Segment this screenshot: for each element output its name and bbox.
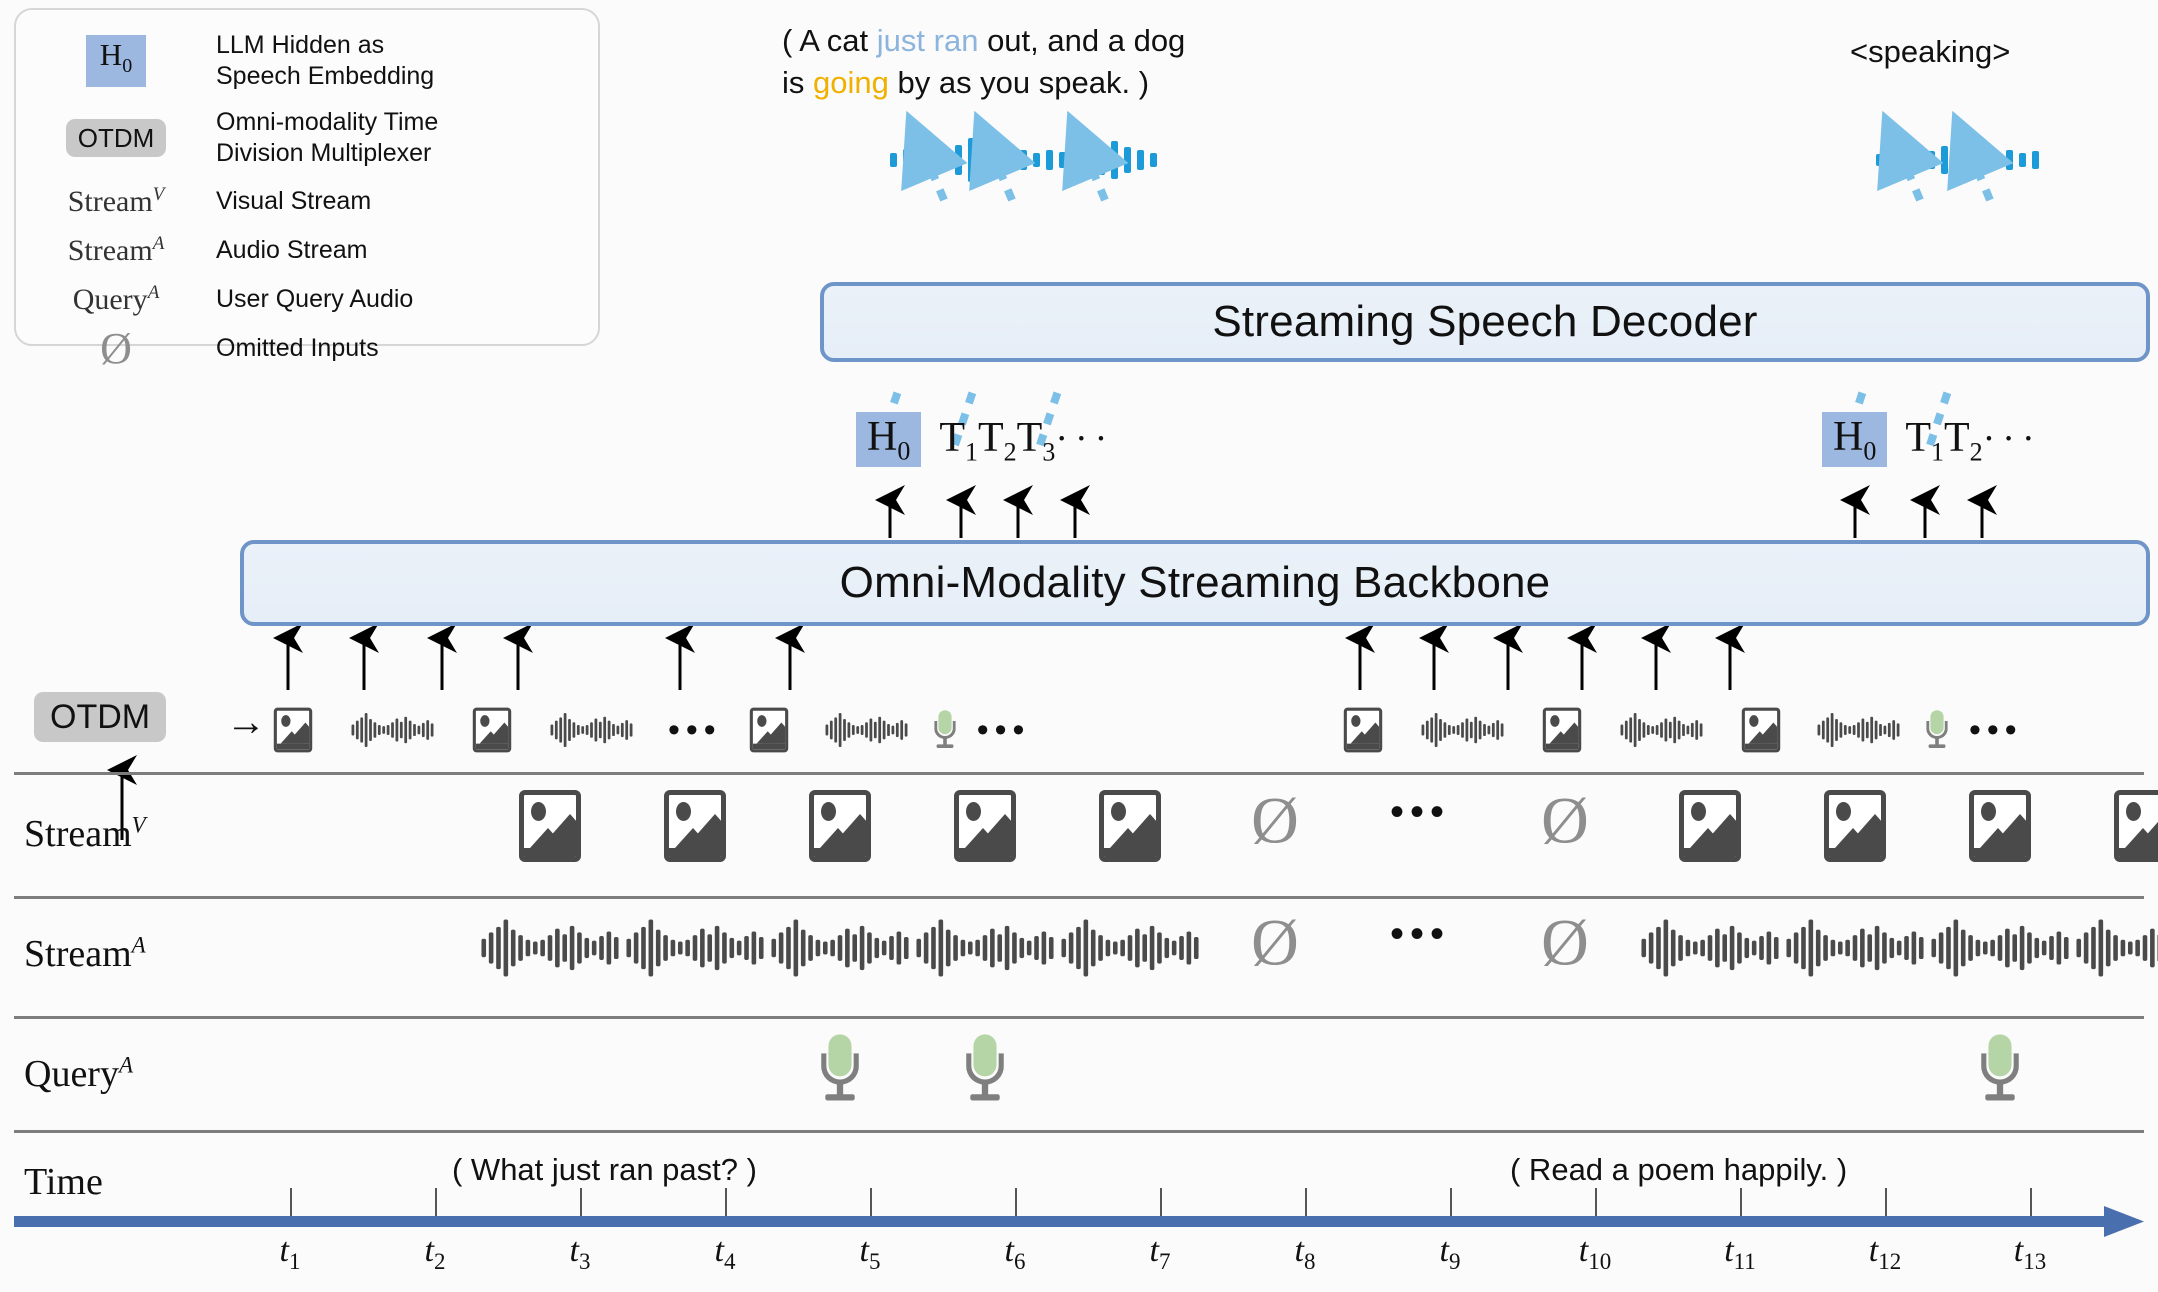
stream-audio-symbol: StreamA xyxy=(68,233,165,268)
audio-bar xyxy=(1823,935,1828,961)
audio-bar xyxy=(823,942,828,955)
audio-bar xyxy=(1912,931,1917,964)
audio-bar xyxy=(852,934,857,962)
row-divider-3 xyxy=(14,1130,2144,1133)
time-tick xyxy=(870,1188,872,1216)
token-t3: T3 xyxy=(1017,414,1056,467)
audio-bar xyxy=(685,940,690,957)
legend-key-h0: H0 xyxy=(16,35,216,86)
audio-bar xyxy=(1860,929,1865,968)
audio-bar xyxy=(413,724,416,736)
speaking-tag-label: <speaking> xyxy=(1850,34,2010,70)
audio-bar xyxy=(1128,935,1133,961)
audio-bar xyxy=(551,725,554,736)
ellipsis-icon: ••• xyxy=(668,711,722,750)
microphone-icon xyxy=(1925,710,1949,750)
audio-bar xyxy=(924,932,929,963)
waveform-bar xyxy=(981,151,988,169)
image-frame-icon xyxy=(473,708,511,753)
audio-bar xyxy=(1165,938,1170,958)
audio-bar xyxy=(953,935,958,961)
time-tick-label: t10 xyxy=(1579,1232,1611,1275)
audio-bar xyxy=(603,717,606,743)
audio-bar xyxy=(1737,932,1742,963)
audio-bar xyxy=(816,940,821,957)
image-frame-icon xyxy=(519,790,581,862)
time-tick-label: t13 xyxy=(2014,1232,2046,1275)
audio-bar xyxy=(1968,935,1973,961)
audio-bar xyxy=(418,726,421,735)
audio-bar xyxy=(1621,725,1624,736)
audio-bar xyxy=(830,721,833,740)
audio-bar xyxy=(1643,722,1646,737)
audio-bar xyxy=(489,932,494,963)
audio-bar xyxy=(663,935,668,961)
audio-bar xyxy=(1664,919,1669,976)
audio-bar xyxy=(369,719,372,741)
audio-waveform-icon xyxy=(916,915,1053,981)
output-waveform-right xyxy=(1876,138,2039,182)
audio-bar xyxy=(504,919,509,976)
audio-bar xyxy=(1020,938,1025,958)
waveform-bar xyxy=(1876,154,1883,166)
audio-bar xyxy=(786,927,791,969)
audio-waveform-icon xyxy=(771,915,908,981)
image-frame-icon xyxy=(1099,790,1161,862)
audio-bar xyxy=(1954,919,1959,976)
audio-bar xyxy=(630,723,633,736)
audio-bar xyxy=(649,919,654,976)
audio-bar xyxy=(2128,942,2133,955)
audio-bar xyxy=(1448,725,1451,735)
audio-bar xyxy=(1767,931,1772,964)
token-h0: H0 xyxy=(1822,412,1887,467)
token-h0: H0 xyxy=(856,412,921,467)
stream-audio-cell xyxy=(476,912,625,984)
stream-audio-cell: Ø xyxy=(1251,912,1299,974)
audio-bar xyxy=(1061,939,1066,957)
decoder-label: Streaming Speech Decoder xyxy=(1212,297,1757,347)
audio-bar xyxy=(887,724,890,736)
audio-bar xyxy=(614,937,619,959)
audio-bar xyxy=(1474,717,1477,743)
streaming-speech-decoder-box[interactable]: Streaming Speech Decoder xyxy=(820,282,2150,362)
audio-bar xyxy=(1845,940,1850,957)
utterance-seg-4: by as you speak. ) xyxy=(889,65,1149,100)
audio-bar xyxy=(1461,722,1464,737)
audio-bar xyxy=(625,720,628,740)
audio-bar xyxy=(939,919,944,976)
audio-bar xyxy=(2099,919,2104,976)
legend-key-otdm: OTDM xyxy=(16,119,216,157)
audio-bar xyxy=(1120,940,1125,957)
utterance-seg-highlight-blue: just ran xyxy=(877,23,979,58)
image-frame-icon xyxy=(1679,790,1741,862)
ellipsis-icon: ••• xyxy=(1390,790,1450,835)
audio-bar xyxy=(426,720,429,740)
audio-bar xyxy=(2084,932,2089,963)
waveform-bar xyxy=(968,138,975,182)
audio-bar xyxy=(1439,719,1442,741)
omitted-input-icon: Ø xyxy=(1541,790,1589,852)
row-label-query-audio: QueryA xyxy=(24,1052,133,1096)
audio-bar xyxy=(1457,725,1460,735)
audio-bar xyxy=(845,929,850,968)
time-tick-label: t5 xyxy=(860,1232,881,1275)
audio-bar xyxy=(1647,725,1650,735)
audio-bar xyxy=(897,931,902,964)
audio-bar xyxy=(671,940,676,957)
otdm-cell xyxy=(736,694,802,766)
legend-panel: H0 LLM Hidden asSpeech Embedding OTDM Om… xyxy=(14,8,600,346)
audio-bar xyxy=(722,932,727,963)
audio-bar xyxy=(990,929,995,968)
waveform-bar xyxy=(1889,150,1896,170)
audio-bar xyxy=(1875,926,1880,970)
audio-bar xyxy=(1884,726,1887,735)
token-ellipsis: ··· xyxy=(1055,417,1114,467)
audio-bar xyxy=(559,717,562,742)
stream-visual-cell: ••• xyxy=(1390,790,1450,835)
audio-bar xyxy=(1853,725,1856,735)
audio-bar xyxy=(900,720,903,740)
audio-bar xyxy=(916,939,921,957)
audio-bar xyxy=(1691,723,1694,737)
stream-visual-cell xyxy=(809,790,871,862)
stream-visual-cell xyxy=(1679,790,1741,862)
audio-bar xyxy=(577,932,582,963)
audio-bar xyxy=(1488,726,1491,735)
audio-bar xyxy=(968,942,973,955)
row-divider-2 xyxy=(14,1016,2144,1019)
otdm-cell xyxy=(1330,694,1396,766)
audio-bar xyxy=(1634,713,1637,747)
audio-bar xyxy=(1759,936,1764,960)
legend-key-omitted: Ø xyxy=(16,329,216,369)
audio-bar xyxy=(481,939,486,957)
legend-item-otdm: OTDM Omni-modality TimeDivision Multiple… xyxy=(16,100,598,176)
audio-waveform-icon xyxy=(1621,710,1703,750)
time-tick-label: t2 xyxy=(425,1232,446,1275)
audio-bar xyxy=(1840,722,1843,737)
audio-bar xyxy=(533,942,538,955)
omitted-input-icon: Ø xyxy=(1251,790,1299,852)
otdm-sequence-left: •••••• xyxy=(260,694,1040,766)
stream-visual-cell xyxy=(519,790,581,862)
audio-waveform-icon xyxy=(2076,915,2158,981)
audio-bar xyxy=(1826,717,1829,742)
audio-bar xyxy=(1656,725,1659,735)
h0-chip: H0 xyxy=(86,35,146,86)
waveform-bar xyxy=(1915,148,1922,172)
audio-bar xyxy=(595,718,598,741)
audio-bar xyxy=(570,926,575,970)
audio-bar xyxy=(391,722,394,737)
legend-desc-otdm: Omni-modality TimeDivision Multiplexer xyxy=(216,107,438,169)
audio-bar xyxy=(1822,721,1825,740)
query-audio-cell xyxy=(1980,1036,2020,1102)
audio-bar xyxy=(2035,938,2040,958)
audio-bar xyxy=(1897,941,1902,956)
stream-audio-cell xyxy=(911,912,1060,984)
waveform-bar xyxy=(1150,153,1157,167)
audio-bar xyxy=(1422,725,1425,736)
row-label-stream-visual: StreamV xyxy=(24,812,146,856)
audio-bar xyxy=(555,929,560,968)
image-frame-icon xyxy=(749,708,787,753)
time-tick xyxy=(1885,1188,1887,1216)
audio-bar xyxy=(1678,935,1683,961)
audio-bar xyxy=(904,937,909,959)
utterance-seg-3: is xyxy=(782,65,813,100)
otdm-cell xyxy=(459,694,525,766)
token-row-left: H0T1T2T3··· xyxy=(856,412,1114,467)
audio-bar xyxy=(1501,723,1504,736)
audio-bar xyxy=(374,722,377,737)
audio-bar xyxy=(573,722,576,737)
audio-bar xyxy=(1897,723,1900,736)
omitted-input-icon: Ø xyxy=(1541,912,1589,974)
audio-bar xyxy=(641,927,646,969)
audio-bar xyxy=(2106,930,2111,967)
audio-waveform-icon xyxy=(1931,915,2068,981)
time-tick xyxy=(2030,1188,2032,1216)
omitted-input-icon: Ø xyxy=(1251,912,1299,974)
stream-visual-cell xyxy=(2114,790,2158,862)
audio-bar xyxy=(2091,927,2096,969)
audio-bar xyxy=(1426,721,1429,740)
audio-bar xyxy=(1466,718,1469,741)
audio-bar xyxy=(825,725,828,736)
otdm-chip-main: OTDM xyxy=(34,692,166,742)
audio-bar xyxy=(2049,936,2054,960)
audio-bar xyxy=(1656,927,1661,969)
audio-waveform-icon xyxy=(1061,915,1198,981)
time-tick-label: t6 xyxy=(1005,1232,1026,1275)
audio-bar xyxy=(847,722,850,737)
token-row-right: H0T1T2··· xyxy=(1822,412,2042,467)
audio-bar xyxy=(1649,932,1654,963)
audio-bar xyxy=(1983,942,1988,955)
token-t2: T2 xyxy=(978,414,1017,467)
audio-bar xyxy=(834,717,837,742)
token-t1: T1 xyxy=(939,414,978,467)
stream-visual-cell xyxy=(1824,790,1886,862)
audio-waveform-icon xyxy=(352,710,434,750)
audio-bar xyxy=(707,934,712,962)
audio-waveform-icon xyxy=(1818,710,1900,750)
audio-bar xyxy=(409,721,412,740)
audio-bar xyxy=(1976,940,1981,957)
otdm-cell xyxy=(1798,694,1955,766)
audio-bar xyxy=(794,919,799,976)
audio-bar xyxy=(2076,939,2081,957)
time-tick xyxy=(1595,1188,1597,1216)
audio-bar xyxy=(1005,926,1010,970)
waveform-bar xyxy=(1033,153,1040,167)
audio-bar xyxy=(1076,927,1081,969)
audio-bar xyxy=(2064,937,2069,959)
audio-bar xyxy=(360,717,363,742)
audio-bar xyxy=(607,931,612,964)
audio-bar xyxy=(1892,720,1895,740)
image-frame-icon xyxy=(1742,708,1780,753)
otdm-chip-container[interactable]: OTDM xyxy=(34,702,166,733)
time-tick-label: t8 xyxy=(1295,1232,1316,1275)
waveform-bar xyxy=(1046,150,1053,170)
audio-bar xyxy=(896,723,899,737)
audio-bar xyxy=(1844,725,1847,735)
audio-bar xyxy=(1479,721,1482,740)
audio-bar xyxy=(656,930,661,967)
waveform-bar xyxy=(955,145,962,175)
audio-bar xyxy=(1042,931,1047,964)
audio-bar xyxy=(564,713,567,747)
otdm-cell xyxy=(1599,694,1724,766)
audio-waveform-icon xyxy=(1786,915,1923,981)
token-t1: T1 xyxy=(1905,414,1944,467)
utterance-seg-highlight-orange: going xyxy=(813,65,889,100)
audio-bar xyxy=(1671,930,1676,967)
audio-bar xyxy=(634,932,639,963)
audio-bar xyxy=(404,717,407,743)
audio-bar xyxy=(378,725,381,735)
audio-bar xyxy=(1027,941,1032,956)
audio-bar xyxy=(562,934,567,962)
audio-bar xyxy=(548,935,553,961)
audio-bar xyxy=(612,724,615,736)
audio-bar xyxy=(1879,724,1882,736)
legend-desc-query-audio: User Query Audio xyxy=(216,284,413,315)
legend-key-stream-visual: StreamV xyxy=(16,184,216,219)
audio-bar xyxy=(1809,919,1814,976)
audio-bar xyxy=(1049,937,1054,959)
waveform-bar xyxy=(929,147,936,173)
audio-bar xyxy=(1142,934,1147,962)
audio-bar xyxy=(889,936,894,960)
audio-bar xyxy=(1870,717,1873,743)
audio-bar xyxy=(759,937,764,959)
waveform-bar xyxy=(1954,139,1961,181)
audio-bar xyxy=(1091,930,1096,967)
waveform-bar xyxy=(1098,145,1105,175)
time-tick-label: t1 xyxy=(280,1232,301,1275)
microphone-icon xyxy=(964,1034,1006,1103)
audio-bar xyxy=(621,723,624,737)
audio-bar xyxy=(1150,926,1155,970)
audio-bar xyxy=(808,935,813,961)
stream-visual-cell xyxy=(1099,790,1161,862)
time-tick-label: t12 xyxy=(1869,1232,1901,1275)
legend-desc-omitted: Omitted Inputs xyxy=(216,333,379,364)
audio-bar xyxy=(1157,932,1162,963)
audio-bar xyxy=(1866,722,1869,739)
audio-bar xyxy=(1818,725,1821,736)
stream-audio-cell: Ø xyxy=(1541,912,1589,974)
audio-bar xyxy=(771,939,776,957)
audio-bar xyxy=(1470,722,1473,739)
time-axis-line xyxy=(14,1216,2114,1227)
audio-bar xyxy=(856,726,859,734)
audio-bar xyxy=(352,725,355,736)
stream-visual-cell xyxy=(664,790,726,862)
audio-bar xyxy=(983,935,988,961)
audio-bar xyxy=(874,722,877,739)
audio-bar xyxy=(608,721,611,740)
waveform-bar xyxy=(1928,151,1935,169)
audio-bar xyxy=(1625,721,1628,740)
audio-bar xyxy=(1882,932,1887,963)
row-label-time: Time xyxy=(24,1160,103,1204)
token-ellipsis: ··· xyxy=(1983,417,2042,467)
legend-desc-h0: LLM Hidden asSpeech Embedding xyxy=(216,30,434,92)
audio-bar xyxy=(2150,929,2155,968)
audio-bar xyxy=(838,713,841,747)
waveform-bar xyxy=(942,150,949,170)
audio-bar xyxy=(577,725,580,735)
otdm-cell xyxy=(806,694,963,766)
audio-bar xyxy=(867,932,872,963)
audio-bar xyxy=(592,941,597,956)
audio-waveform-icon xyxy=(551,710,633,750)
waveform-bar xyxy=(1020,150,1027,170)
audio-bar xyxy=(1444,722,1447,737)
omni-modality-streaming-backbone-box[interactable]: Omni-Modality Streaming Backbone xyxy=(240,540,2150,626)
legend-item-omitted: Ø Omitted Inputs xyxy=(16,325,598,372)
otdm-sequence-right: ••• xyxy=(1330,694,2033,766)
row-divider-1 xyxy=(14,896,2144,899)
audio-bar xyxy=(1069,932,1074,963)
waveform-bar xyxy=(1072,148,1079,172)
stream-visual-cell xyxy=(954,790,1016,862)
audio-bar xyxy=(1012,932,1017,963)
audio-bar xyxy=(1452,726,1455,734)
audio-bar xyxy=(678,942,683,955)
audio-bar xyxy=(586,725,589,735)
audio-bar xyxy=(1638,719,1641,741)
audio-bar xyxy=(1660,722,1663,737)
time-tick xyxy=(580,1188,582,1216)
image-frame-icon xyxy=(1824,790,1886,862)
query-audio-symbol: QueryA xyxy=(73,282,160,317)
audio-waveform-icon xyxy=(481,915,618,981)
audio-bar xyxy=(585,938,590,958)
audio-bar xyxy=(904,723,907,736)
audio-bar xyxy=(365,713,368,747)
audio-bar xyxy=(1106,940,1111,957)
utterance-seg-0: ( A cat xyxy=(782,23,877,58)
audio-bar xyxy=(555,721,558,740)
audio-bar xyxy=(2121,940,2126,957)
waveform-bar xyxy=(1124,147,1131,173)
microphone-icon xyxy=(933,710,957,750)
audio-bar xyxy=(869,718,872,741)
audio-bar xyxy=(1496,720,1499,740)
audio-bar xyxy=(540,940,545,957)
audio-bar xyxy=(1862,718,1865,741)
audio-bar xyxy=(2057,931,2062,964)
audio-bar xyxy=(1786,939,1791,957)
generated-utterance-text: ( A cat just ran out, and a dogis going … xyxy=(782,20,1342,104)
audio-bar xyxy=(715,926,720,970)
audio-bar xyxy=(387,725,390,735)
otdm-chip: OTDM xyxy=(66,119,167,157)
waveform-bar xyxy=(1137,150,1144,170)
audio-bar xyxy=(1669,722,1672,739)
audio-bar xyxy=(1875,721,1878,740)
audio-bar xyxy=(1686,940,1691,957)
audio-bar xyxy=(730,938,735,958)
